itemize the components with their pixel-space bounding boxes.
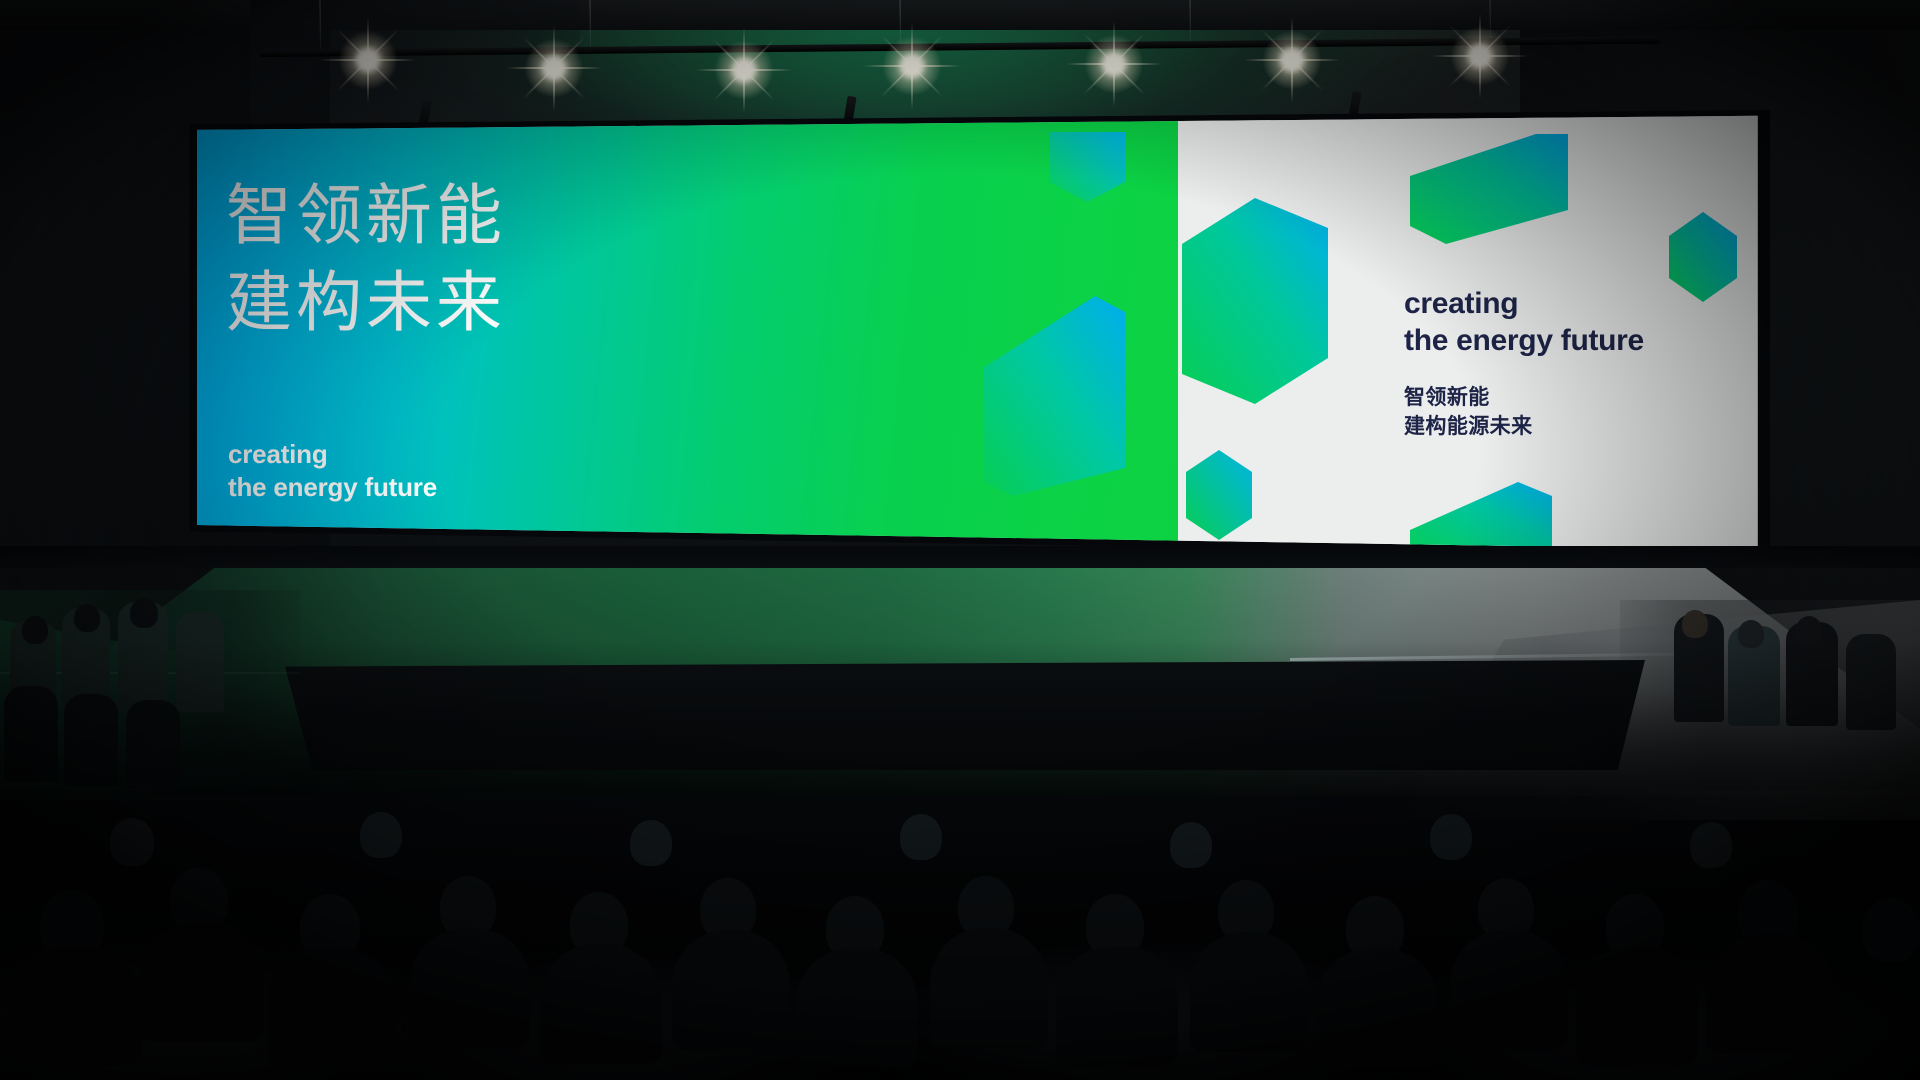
hex-right-small-icon: [1669, 212, 1737, 302]
hex-slab-topright-icon: [1410, 134, 1568, 244]
stage-back-edge: [0, 546, 1920, 568]
spotlight-flare: [1290, 58, 1294, 62]
audience-front-rows: [0, 640, 1920, 1080]
led-right-english-tagline: creating the energy future: [1404, 285, 1644, 359]
hex-top-divider-icon: [1049, 132, 1125, 202]
spotlight-flare: [1478, 54, 1482, 58]
hex-small-lower-icon: [1186, 450, 1252, 540]
hex-slab-left-icon: [983, 296, 1125, 496]
spotlight-flare: [552, 66, 556, 70]
led-right-chinese-subhead: 智领新能 建构能源未来: [1404, 384, 1533, 442]
led-left-english-tagline: creating the energy future: [228, 438, 437, 505]
spotlight-flare: [366, 58, 370, 62]
stage-scene: 智领新能 建构未来 creating the energy future cre…: [0, 0, 1920, 1080]
hex-large-center-icon: [1182, 198, 1328, 404]
led-left-chinese-headline: 智领新能 建构未来: [226, 172, 506, 346]
spotlight-flare: [910, 64, 914, 68]
spotlight-flare: [1112, 62, 1116, 66]
spotlight-flare: [742, 68, 746, 72]
